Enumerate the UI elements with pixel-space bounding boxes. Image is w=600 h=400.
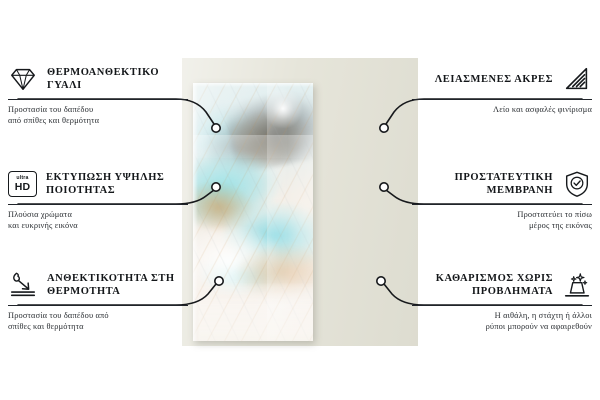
feature-easy-cleaning: ΚΑΘΑΡΙΣΜΟΣ ΧΩΡΙΣ ΠΡΟΒΛΗΜΑΤΑ Η αιθάλη, η …	[412, 268, 592, 333]
feature-divider	[412, 204, 592, 205]
feature-title: ΘΕΡΜΟΑΝΘΕΚΤΙΚΟ ΓΥΑΛΙ	[47, 66, 188, 92]
connector-dot-left-3	[215, 277, 223, 285]
feature-description: Προστατεύει το πίσωμέρος της εικόνας	[412, 209, 592, 232]
easy-clean-icon	[562, 270, 592, 300]
feature-title: ΠΡΟΣΤΑΤΕΥΤΙΚΗ ΜΕΜΒΡΑΝΗ	[412, 171, 553, 197]
feature-description: Η αιθάλη, η στάχτη ή άλλοιρύποι μπορούν …	[412, 310, 592, 333]
infographic-canvas: ΘΕΡΜΟΑΝΘΕΚΤΙΚΟ ΓΥΑΛΙ Προστασία του δαπέδ…	[0, 0, 600, 400]
feature-title: ΑΝΘΕΚΤΙΚΟΤΗΤΑ ΣΤΗ ΘΕΡΜΟΤΗΤΑ	[47, 272, 188, 298]
feature-title: ΕΚΤΥΠΩΣΗ ΥΨΗΛΗΣ ΠΟΙΟΤΗΤΑΣ	[46, 171, 188, 197]
feature-description: Λείο και ασφαλές φινίρισμα	[412, 104, 592, 115]
feature-title: ΚΑΘΑΡΙΣΜΟΣ ΧΩΡΙΣ ΠΡΟΒΛΗΜΑΤΑ	[412, 272, 553, 298]
connector-dot-right-1	[380, 124, 388, 132]
polished-edges-icon	[562, 64, 592, 94]
ultra-hd-icon: ultra HD	[8, 171, 37, 197]
feature-title: ΛΕΙΑΣΜΕΝΕΣ ΑΚΡΕΣ	[412, 73, 553, 86]
connector-dot-right-2	[380, 183, 388, 191]
ultra-hd-icon-large-label: HD	[15, 182, 31, 193]
feature-description: Πλούσια χρώματακαι ευκρινής εικόνα	[8, 209, 188, 232]
connector-dot-left-1	[212, 124, 220, 132]
feature-description: Προστασία του δαπέδουαπό σπίθες και θερμ…	[8, 104, 188, 127]
shield-check-icon	[562, 169, 592, 199]
feature-high-quality-print: ultra HD ΕΚΤΥΠΩΣΗ ΥΨΗΛΗΣ ΠΟΙΟΤΗΤΑΣ Πλούσ…	[8, 167, 188, 232]
connector-dot-right-3	[377, 277, 385, 285]
connector-dot-left-2	[212, 183, 220, 191]
feature-divider	[8, 305, 188, 306]
heat-resistance-icon	[8, 270, 38, 300]
feature-protective-film: ΠΡΟΣΤΑΤΕΥΤΙΚΗ ΜΕΜΒΡΑΝΗ Προστατεύει το πί…	[412, 167, 592, 232]
feature-divider	[412, 99, 592, 100]
feature-heat-resistant-glass: ΘΕΡΜΟΑΝΘΕΚΤΙΚΟ ΓΥΑΛΙ Προστασία του δαπέδ…	[8, 62, 188, 127]
feature-polished-edges: ΛΕΙΑΣΜΕΝΕΣ ΑΚΡΕΣ Λείο και ασφαλές φινίρι…	[412, 62, 592, 115]
feature-divider	[8, 204, 188, 205]
feature-description: Προστασία του δαπέδου απόσπίθες και θερμ…	[8, 310, 188, 333]
feature-divider	[412, 305, 592, 306]
feature-heat-resistance: ΑΝΘΕΚΤΙΚΟΤΗΤΑ ΣΤΗ ΘΕΡΜΟΤΗΤΑ Προστασία το…	[8, 268, 188, 333]
diamond-icon	[8, 64, 38, 94]
feature-divider	[8, 99, 188, 100]
